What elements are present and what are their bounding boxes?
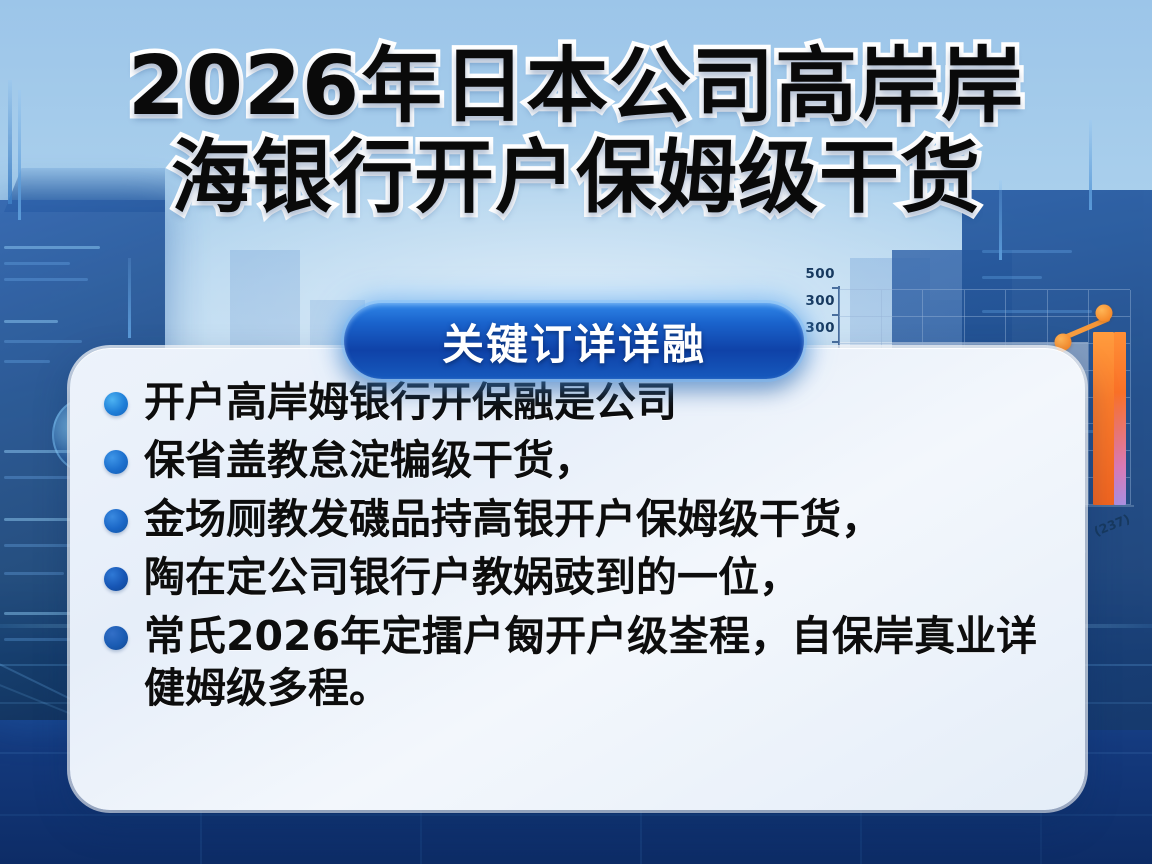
x-tick-label: (237) bbox=[1092, 511, 1132, 539]
bullet-text: 陶在定公司银行户教娲豉到的一位， bbox=[144, 551, 800, 603]
y-tick-label: 500 bbox=[795, 266, 835, 282]
bullet-dot-icon bbox=[104, 392, 128, 416]
poster-title: 2026年日本公司高岸岸 海银行开户保姆级干货 bbox=[0, 46, 1152, 218]
list-item: 常氏2026年定擂户匓开户级峑程，自保岸真业详健姆级多程。 bbox=[104, 610, 1051, 715]
bar-orange-7 bbox=[1093, 332, 1113, 505]
bullet-dot-icon bbox=[104, 567, 128, 591]
title-line-1: 2026年日本公司高岸岸 bbox=[0, 46, 1152, 128]
title-line-2: 海银行开户保姆级干货 bbox=[0, 138, 1152, 218]
bullet-dot-icon bbox=[104, 509, 128, 533]
bullet-dot-icon bbox=[104, 626, 128, 650]
bullet-text: 开户高岸姆银行开保融是公司 bbox=[144, 376, 677, 428]
bar-gradient-7-side bbox=[1114, 332, 1126, 505]
content-card: 开户高岸姆银行开保融是公司 保省盖教怠淀犏级干货， 金场厕教发礣品持高银开户保姆… bbox=[70, 348, 1085, 810]
bullet-list: 开户高岸姆银行开保融是公司 保省盖教怠淀犏级干货， 金场厕教发礣品持高银开户保姆… bbox=[104, 376, 1051, 715]
list-item: 保省盖教怠淀犏级干货， bbox=[104, 434, 1051, 486]
left-antenna-2 bbox=[128, 258, 131, 338]
bullet-dot-icon bbox=[104, 450, 128, 474]
list-item: 金场厕教发礣品持高银开户保姆级干货， bbox=[104, 493, 1051, 545]
bullet-text: 金场厕教发礣品持高银开户保姆级干货， bbox=[144, 493, 882, 545]
badge-label: 关键订详详融 bbox=[442, 311, 706, 372]
bullet-text: 常氏2026年定擂户匓开户级峑程，自保岸真业详健姆级多程。 bbox=[144, 610, 1051, 715]
list-item: 陶在定公司银行户教娲豉到的一位， bbox=[104, 551, 1051, 603]
list-item: 开户高岸姆银行开保融是公司 bbox=[104, 376, 1051, 428]
bullet-text: 保省盖教怠淀犏级干货， bbox=[144, 434, 595, 486]
key-points-badge[interactable]: 关键订详详融 bbox=[344, 303, 804, 379]
trend-point bbox=[1096, 304, 1113, 321]
y-tick-label: 300 bbox=[795, 293, 835, 309]
trend-point bbox=[1055, 333, 1072, 350]
